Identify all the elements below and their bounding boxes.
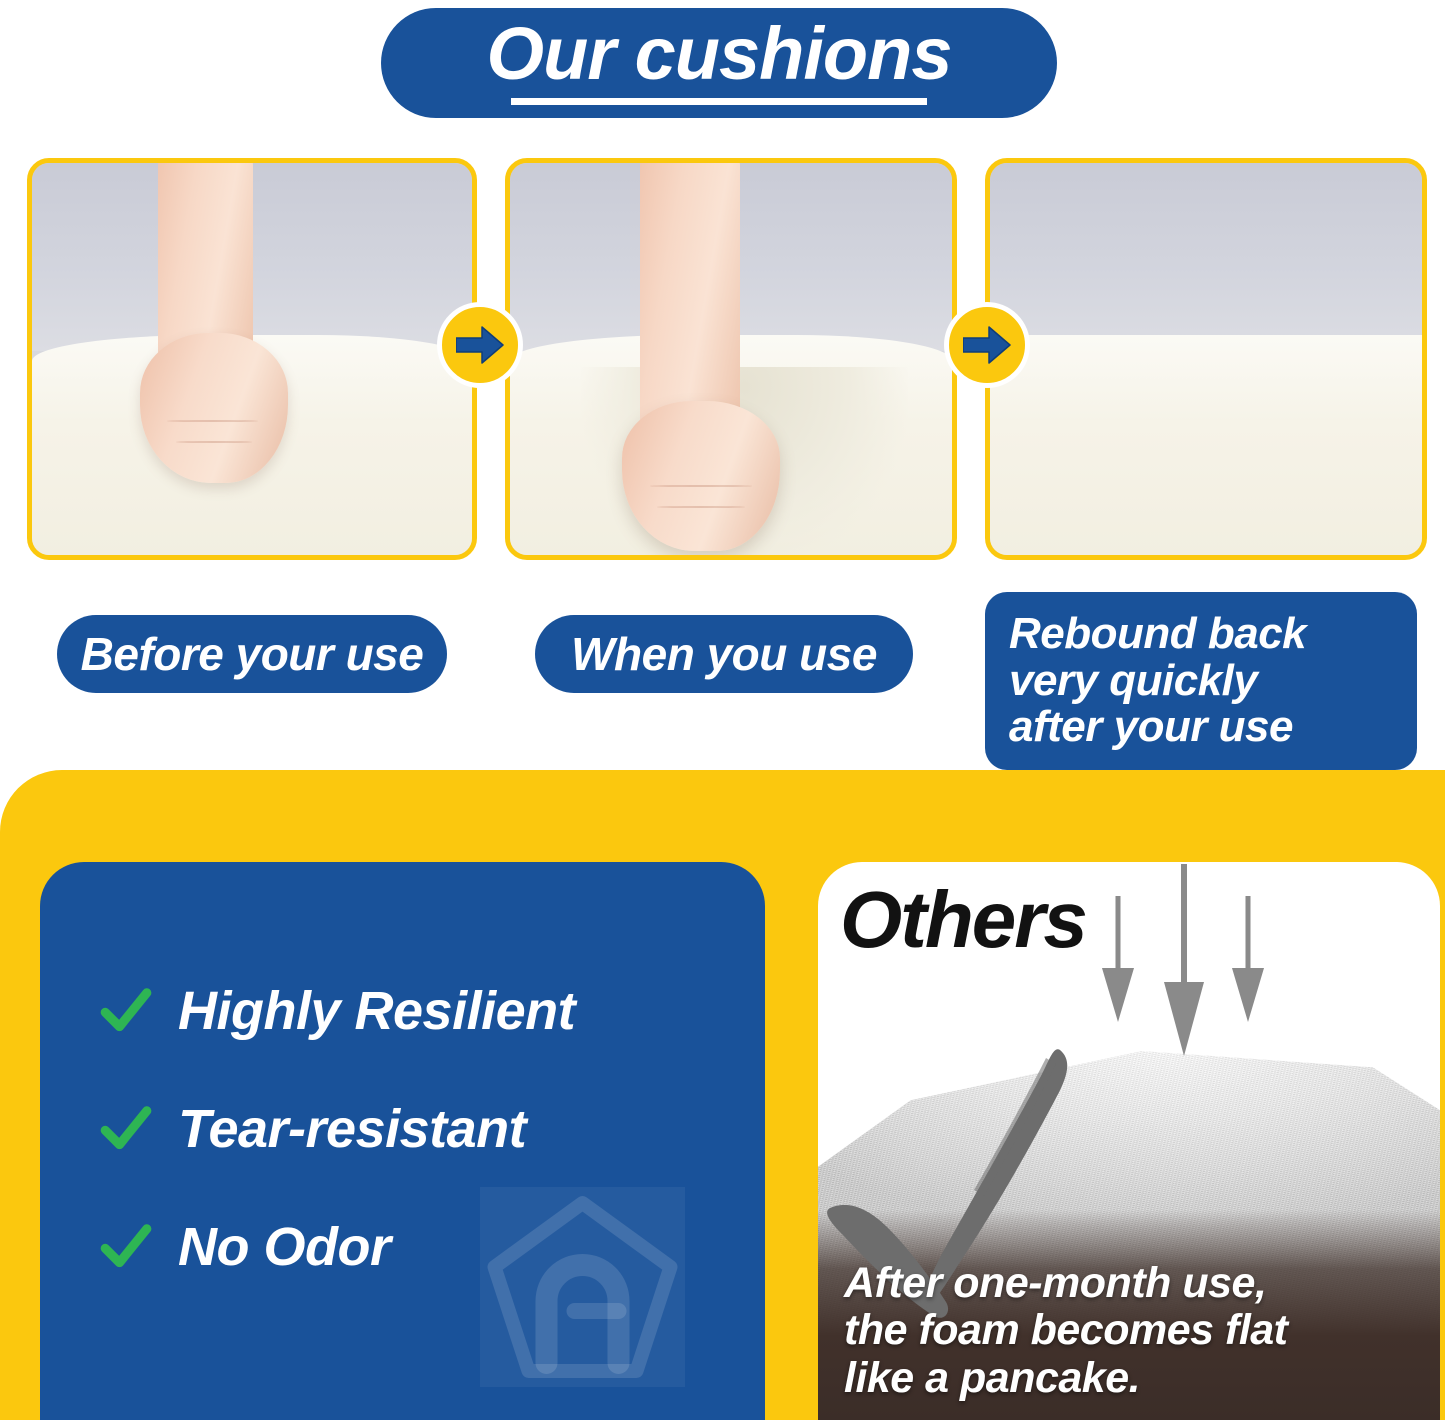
arrow-right-icon: [963, 325, 1011, 365]
others-panel: Others After: [818, 862, 1440, 1420]
features-panel: Highly Resilient Tear-resistant No Odor: [40, 862, 765, 1420]
feature-label: Highly Resilient: [178, 980, 575, 1042]
fist: [622, 401, 780, 551]
step-caption-label: When you use: [571, 627, 877, 681]
check-icon: [100, 1221, 152, 1273]
others-caption-line-3: like a pancake.: [844, 1355, 1288, 1402]
others-caption-line-2: the foam becomes flat: [844, 1307, 1288, 1354]
infographic-page: Our cushions: [0, 0, 1445, 1420]
check-icon: [100, 985, 152, 1037]
title-underline: [511, 98, 927, 105]
feature-label: Tear-resistant: [178, 1098, 526, 1160]
step-caption-line-2: very quickly: [1009, 658, 1257, 705]
fist: [140, 333, 288, 483]
step-arrow-badge-1: [437, 302, 523, 388]
features-list: Highly Resilient Tear-resistant No Odor: [100, 952, 740, 1306]
step-caption-during: When you use: [535, 615, 913, 693]
check-icon: [100, 1103, 152, 1155]
step-caption-rebound: Rebound back very quickly after your use: [985, 592, 1417, 770]
photo-background: [990, 163, 1422, 351]
feature-label: No Odor: [178, 1216, 390, 1278]
step-arrow-badge-2: [944, 302, 1030, 388]
arrow-down-icon: [1100, 864, 1280, 1064]
step-photo-during: [505, 158, 957, 560]
others-title: Others: [840, 880, 1086, 960]
step-photo-before: [27, 158, 477, 560]
step-caption-before: Before your use: [57, 615, 447, 693]
page-title: Our cushions: [487, 17, 952, 91]
feature-item: No Odor: [100, 1188, 740, 1306]
step-caption-line-3: after your use: [1009, 704, 1293, 751]
foam-surface: [990, 335, 1422, 555]
others-caption-line-1: After one-month use,: [844, 1260, 1288, 1307]
others-caption: After one-month use, the foam becomes fl…: [844, 1260, 1288, 1402]
feature-item: Highly Resilient: [100, 952, 740, 1070]
page-title-pill: Our cushions: [381, 8, 1057, 118]
feature-item: Tear-resistant: [100, 1070, 740, 1188]
arrow-right-icon: [456, 325, 504, 365]
step-photo-rebound: [985, 158, 1427, 560]
step-caption-label: Before your use: [81, 627, 424, 681]
step-caption-line-1: Rebound back: [1009, 611, 1306, 658]
